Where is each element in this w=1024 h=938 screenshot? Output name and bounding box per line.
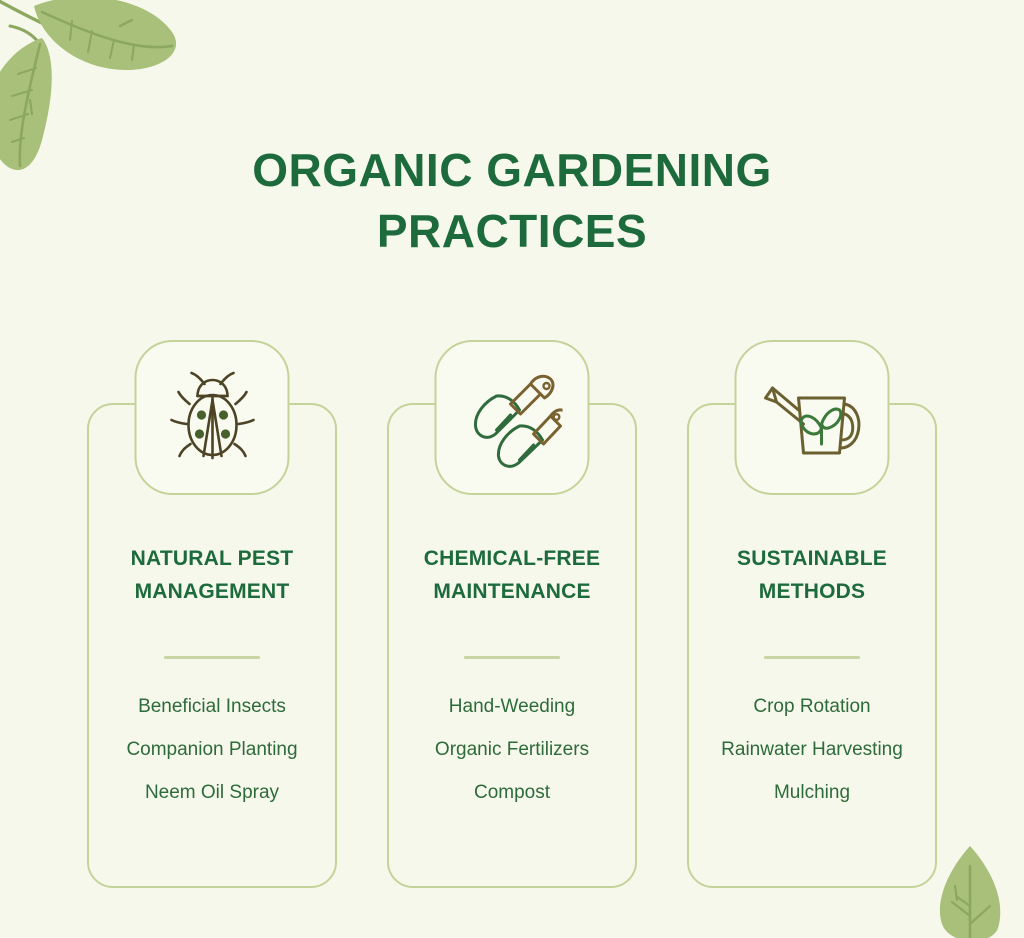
card-heading-line-2: METHODS [697, 576, 927, 609]
card-chemical-free-maintenance[interactable]: CHEMICAL-FREE MAINTENANCE Hand-Weeding O… [387, 340, 637, 888]
watering-can-icon [760, 374, 864, 462]
list-item[interactable]: Organic Fertilizers [387, 728, 637, 771]
card-heading: CHEMICAL-FREE MAINTENANCE [397, 543, 627, 608]
card-heading-line-1: NATURAL PEST [97, 543, 327, 576]
garden-trowels-icon [462, 368, 562, 468]
card-sustainable-methods[interactable]: SUSTAINABLE METHODS Crop Rotation Rainwa… [687, 340, 937, 888]
card-icon-box [435, 340, 590, 495]
card-heading-line-2: MANAGEMENT [97, 576, 327, 609]
card-divider [764, 656, 860, 659]
ladybug-icon [164, 368, 260, 468]
card-heading: NATURAL PEST MANAGEMENT [97, 543, 327, 608]
list-item[interactable]: Neem Oil Spray [87, 771, 337, 814]
list-item[interactable]: Companion Planting [87, 728, 337, 771]
card-icon-box [135, 340, 290, 495]
card-natural-pest-management[interactable]: NATURAL PEST MANAGEMENT Beneficial Insec… [87, 340, 337, 888]
list-item[interactable]: Mulching [687, 771, 937, 814]
list-item[interactable]: Rainwater Harvesting [687, 728, 937, 771]
card-item-list: Beneficial Insects Companion Planting Ne… [87, 685, 337, 814]
card-item-list: Crop Rotation Rainwater Harvesting Mulch… [687, 685, 937, 814]
card-heading-line-2: MAINTENANCE [397, 576, 627, 609]
card-divider [164, 656, 260, 659]
card-heading-line-1: CHEMICAL-FREE [397, 543, 627, 576]
page-title-line-1: ORGANIC GARDENING [0, 140, 1024, 201]
card-item-list: Hand-Weeding Organic Fertilizers Compost [387, 685, 637, 814]
infographic-canvas: ORGANIC GARDENING PRACTICES [0, 0, 1024, 938]
card-heading: SUSTAINABLE METHODS [697, 543, 927, 608]
cards-row: NATURAL PEST MANAGEMENT Beneficial Insec… [0, 340, 1024, 888]
card-icon-box [735, 340, 890, 495]
card-divider [464, 656, 560, 659]
list-item[interactable]: Crop Rotation [687, 685, 937, 728]
list-item[interactable]: Hand-Weeding [387, 685, 637, 728]
page-title: ORGANIC GARDENING PRACTICES [0, 140, 1024, 261]
page-title-line-2: PRACTICES [0, 201, 1024, 262]
card-heading-line-1: SUSTAINABLE [697, 543, 927, 576]
list-item[interactable]: Compost [387, 771, 637, 814]
list-item[interactable]: Beneficial Insects [87, 685, 337, 728]
